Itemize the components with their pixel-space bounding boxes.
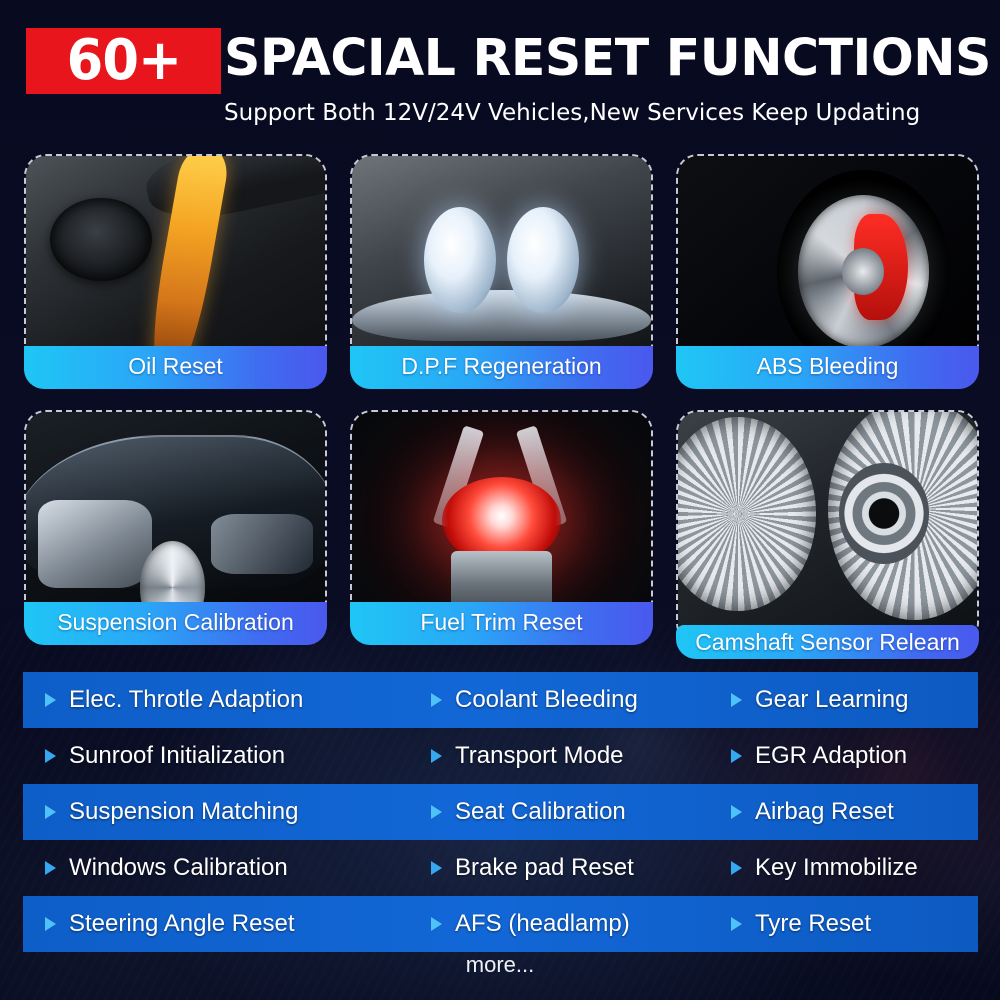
headline-label: SPACIAL RESET FUNCTIONS (224, 33, 991, 85)
list-item[interactable]: EGR Adaption (731, 743, 978, 769)
promo-banner: 60+ SPACIAL RESET FUNCTIONS Support Both… (0, 0, 1000, 1000)
card-row-1: Oil Reset D.P.F Regeneration ABS Bleedin… (24, 154, 979, 389)
headline: SPACIAL RESET FUNCTIONS (224, 26, 994, 92)
triangle-right-icon (45, 861, 56, 875)
feature-card-oil-reset[interactable]: Oil Reset (24, 154, 327, 389)
list-item[interactable]: Airbag Reset (731, 799, 978, 825)
triangle-right-icon (731, 805, 742, 819)
list-item-label: Tyre Reset (755, 911, 871, 937)
list-item-label: Key Immobilize (755, 855, 918, 881)
feature-card-abs-bleeding[interactable]: ABS Bleeding (676, 154, 979, 389)
functions-list-row: Sunroof Initialization Transport Mode EG… (23, 728, 978, 784)
feature-card-label: Suspension Calibration (24, 602, 327, 645)
list-item-label: Seat Calibration (455, 799, 626, 825)
triangle-right-icon (45, 693, 56, 707)
list-item-label: Gear Learning (755, 687, 908, 713)
feature-card-label: Oil Reset (24, 346, 327, 389)
header: 60+ SPACIAL RESET FUNCTIONS Support Both… (0, 28, 1000, 126)
list-item-label: Steering Angle Reset (69, 911, 294, 937)
list-item[interactable]: Coolant Bleeding (431, 687, 731, 713)
list-item-label: Airbag Reset (755, 799, 894, 825)
feature-card-dpf-regeneration[interactable]: D.P.F Regeneration (350, 154, 653, 389)
camshaft-sensor-relearn-image (678, 412, 977, 643)
list-item-label: Coolant Bleeding (455, 687, 638, 713)
list-item[interactable]: Transport Mode (431, 743, 731, 769)
list-item[interactable]: Suspension Matching (23, 799, 431, 825)
list-item[interactable]: Brake pad Reset (431, 855, 731, 881)
triangle-right-icon (45, 749, 56, 763)
list-item-label: Windows Calibration (69, 855, 288, 881)
feature-card-fuel-trim-reset[interactable]: Fuel Trim Reset (350, 410, 653, 645)
functions-list-row: Windows Calibration Brake pad Reset Key … (23, 840, 978, 896)
functions-list-row: Suspension Matching Seat Calibration Air… (23, 784, 978, 840)
list-item-label: AFS (headlamp) (455, 911, 630, 937)
triangle-right-icon (431, 693, 442, 707)
list-item-label: Suspension Matching (69, 799, 298, 825)
subheadline: Support Both 12V/24V Vehicles,New Servic… (224, 100, 994, 126)
list-item[interactable]: Elec. Throtle Adaption (23, 687, 431, 713)
functions-list-row: Elec. Throtle Adaption Coolant Bleeding … (23, 672, 978, 728)
feature-card-grid: Oil Reset D.P.F Regeneration ABS Bleedin… (24, 154, 979, 666)
list-item[interactable]: Sunroof Initialization (23, 743, 431, 769)
feature-card-label: Fuel Trim Reset (350, 602, 653, 645)
triangle-right-icon (45, 805, 56, 819)
functions-list: Elec. Throtle Adaption Coolant Bleeding … (23, 672, 978, 952)
list-item-label: EGR Adaption (755, 743, 907, 769)
list-item-label: Sunroof Initialization (69, 743, 285, 769)
triangle-right-icon (431, 917, 442, 931)
feature-card-suspension-calibration[interactable]: Suspension Calibration (24, 410, 327, 645)
triangle-right-icon (731, 917, 742, 931)
list-item[interactable]: Seat Calibration (431, 799, 731, 825)
triangle-right-icon (431, 861, 442, 875)
triangle-right-icon (431, 805, 442, 819)
list-item[interactable]: Gear Learning (731, 687, 978, 713)
list-item[interactable]: Steering Angle Reset (23, 911, 431, 937)
triangle-right-icon (731, 693, 742, 707)
list-item-label: Elec. Throtle Adaption (69, 687, 303, 713)
list-item[interactable]: Tyre Reset (731, 911, 978, 937)
list-item[interactable]: AFS (headlamp) (431, 911, 731, 937)
functions-list-row: Steering Angle Reset AFS (headlamp) Tyre… (23, 896, 978, 952)
list-item[interactable]: Key Immobilize (731, 855, 978, 881)
feature-card-camshaft-sensor-relearn[interactable]: Camshaft Sensor Relearn (676, 410, 979, 645)
feature-card-label: Camshaft Sensor Relearn (676, 625, 979, 659)
triangle-right-icon (431, 749, 442, 763)
feature-card-label: D.P.F Regeneration (350, 346, 653, 389)
triangle-right-icon (731, 861, 742, 875)
triangle-right-icon (731, 749, 742, 763)
list-item-label: Brake pad Reset (455, 855, 634, 881)
more-label[interactable]: more... (0, 952, 1000, 978)
triangle-right-icon (45, 917, 56, 931)
count-badge: 60+ (26, 28, 221, 94)
feature-card-label: ABS Bleeding (676, 346, 979, 389)
card-row-2: Suspension Calibration Fuel Trim Reset C… (24, 410, 979, 645)
list-item-label: Transport Mode (455, 743, 624, 769)
count-badge-label: 60+ (66, 33, 181, 89)
list-item[interactable]: Windows Calibration (23, 855, 431, 881)
